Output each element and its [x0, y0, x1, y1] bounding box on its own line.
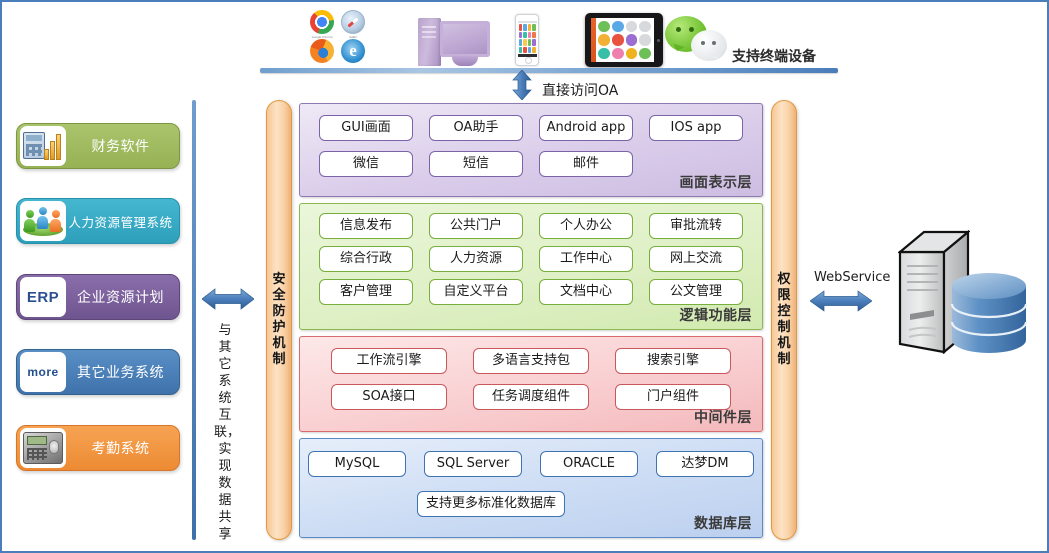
chip-human-resources[interactable]: 人力资源	[429, 246, 523, 272]
attendance-clock-icon	[20, 428, 66, 468]
chip-sms[interactable]: 短信	[429, 151, 523, 177]
presentation-layer-title: 画面表示层	[680, 172, 753, 192]
phone-screen-shape	[518, 21, 537, 57]
permission-control-label: 权限控制机制	[777, 272, 792, 368]
sidebar-item-erp[interactable]: ERP 企业资源计划	[16, 274, 180, 320]
browser-icons-group: Google Chrome Safari	[308, 8, 372, 66]
supported-devices-caption: 支持终端设备	[732, 46, 816, 66]
webservice-arrow-icon	[810, 290, 872, 312]
chip-oracle[interactable]: ORACLE	[540, 451, 638, 477]
architecture-diagram: Google Chrome Safari	[0, 0, 1049, 553]
chip-customer-management[interactable]: 客户管理	[319, 279, 413, 305]
safari-icon	[341, 10, 365, 34]
chip-general-admin[interactable]: 综合行政	[319, 246, 413, 272]
chip-row: MySQL SQL Server ORACLE 达梦DM	[300, 451, 762, 477]
chip-row: GUI画面 OA助手 Android app IOS app	[300, 115, 762, 141]
interconnect-arrow-icon	[202, 288, 254, 310]
chip-online-communication[interactable]: 网上交流	[649, 246, 743, 272]
chip-row: 支持更多标准化数据库	[300, 491, 762, 517]
logic-layer-title: 逻辑功能层	[680, 305, 753, 325]
database-layer-panel: MySQL SQL Server ORACLE 达梦DM 支持更多标准化数据库 …	[299, 438, 763, 538]
chip-personal-office[interactable]: 个人办公	[539, 213, 633, 239]
pc-monitor-shape	[440, 21, 490, 57]
tablet-icon	[585, 13, 663, 67]
sidebar-item-label: 其它业务系统	[66, 362, 179, 382]
more-badge-text: more	[27, 365, 58, 379]
sidebar-item-other-business-systems[interactable]: more 其它业务系统	[16, 349, 180, 395]
server-database-group	[892, 230, 1032, 360]
smartphone-icon	[515, 14, 539, 66]
database-layer-title: 数据库层	[694, 513, 752, 533]
wechat-bubble-small	[691, 30, 727, 61]
chip-row: SOA接口 任务调度组件 门户组件	[300, 384, 762, 410]
sidebar-item-label: 人力资源管理系统	[66, 212, 179, 231]
chip-workflow-engine[interactable]: 工作流引擎	[331, 348, 447, 374]
chip-info-publish[interactable]: 信息发布	[319, 213, 413, 239]
chip-more-standard-databases[interactable]: 支持更多标准化数据库	[417, 491, 565, 517]
erp-badge-icon: ERP	[20, 277, 66, 317]
logic-layer-panel: 信息发布 公共门户 个人办公 审批流转 综合行政 人力资源 工作中心 网上交流 …	[299, 203, 763, 330]
security-mechanism-pillar: 安全防护机制	[266, 100, 292, 540]
more-badge-icon: more	[20, 352, 66, 392]
chip-official-document-management[interactable]: 公文管理	[649, 279, 743, 305]
pc-stand-shape	[452, 56, 478, 66]
sidebar-item-attendance-system[interactable]: 考勤系统	[16, 425, 180, 471]
chip-sql-server[interactable]: SQL Server	[424, 451, 522, 477]
sidebar-item-label: 考勤系统	[66, 438, 179, 458]
chrome-icon	[310, 10, 334, 34]
phone-home-button	[525, 57, 532, 64]
chip-dameng-dm[interactable]: 达梦DM	[656, 451, 754, 477]
sidebar-item-label: 企业资源计划	[66, 287, 179, 307]
chip-row: 客户管理 自定义平台 文档中心 公文管理	[300, 279, 762, 305]
firefox-icon	[310, 39, 334, 63]
database-cylinder-icon	[950, 272, 1028, 354]
interconnect-rail	[192, 100, 196, 540]
wechat-icon	[665, 16, 729, 66]
direct-access-arrow-icon	[512, 70, 532, 100]
permission-control-pillar: 权限控制机制	[771, 100, 797, 540]
presentation-layer-panel: GUI画面 OA助手 Android app IOS app 微信 短信 邮件 …	[299, 103, 763, 197]
pc-tower-shape	[418, 18, 441, 66]
chip-soa-interface[interactable]: SOA接口	[331, 384, 447, 410]
middleware-layer-panel: 工作流引擎 多语言支持包 搜索引擎 SOA接口 任务调度组件 门户组件 中间件层	[299, 336, 763, 432]
desktop-pc-icon	[418, 14, 496, 66]
chip-custom-platform[interactable]: 自定义平台	[429, 279, 523, 305]
sidebar-item-hr-system[interactable]: 人力资源管理系统	[16, 198, 180, 244]
tablet-camera-shape	[657, 39, 660, 42]
chip-work-center[interactable]: 工作中心	[539, 246, 633, 272]
chip-row: 信息发布 公共门户 个人办公 审批流转	[300, 213, 762, 239]
ie-icon	[341, 39, 365, 63]
chip-document-center[interactable]: 文档中心	[539, 279, 633, 305]
chip-gui-screen[interactable]: GUI画面	[319, 115, 413, 141]
direct-access-caption: 直接访问OA	[542, 80, 618, 100]
hr-people-icon	[20, 201, 66, 241]
erp-badge-text: ERP	[27, 289, 59, 306]
chip-approval-flow[interactable]: 审批流转	[649, 213, 743, 239]
chip-multilang-pack[interactable]: 多语言支持包	[473, 348, 589, 374]
middleware-layer-title: 中间件层	[694, 407, 752, 427]
chip-task-scheduler[interactable]: 任务调度组件	[473, 384, 589, 410]
chip-ios-app[interactable]: IOS app	[649, 115, 743, 141]
chip-oa-assistant[interactable]: OA助手	[429, 115, 523, 141]
interconnect-caption: 与其它系统互联，实现数据共享	[214, 322, 236, 543]
sidebar-item-label: 财务软件	[66, 136, 179, 156]
finance-icon	[20, 126, 66, 166]
chip-email[interactable]: 邮件	[539, 151, 633, 177]
chip-row: 综合行政 人力资源 工作中心 网上交流	[300, 246, 762, 272]
security-mechanism-label: 安全防护机制	[272, 272, 287, 368]
tablet-sidebar-shape	[591, 18, 596, 62]
chip-search-engine[interactable]: 搜索引擎	[615, 348, 731, 374]
sidebar-item-finance-software[interactable]: 财务软件	[16, 123, 180, 169]
chip-mysql[interactable]: MySQL	[308, 451, 406, 477]
chip-row: 工作流引擎 多语言支持包 搜索引擎	[300, 348, 762, 374]
chip-public-portal[interactable]: 公共门户	[429, 213, 523, 239]
webservice-label: WebService	[814, 270, 890, 285]
tablet-screen-shape	[591, 18, 654, 62]
access-bus-bar	[260, 68, 838, 73]
chip-wechat[interactable]: 微信	[319, 151, 413, 177]
chip-android-app[interactable]: Android app	[539, 115, 633, 141]
